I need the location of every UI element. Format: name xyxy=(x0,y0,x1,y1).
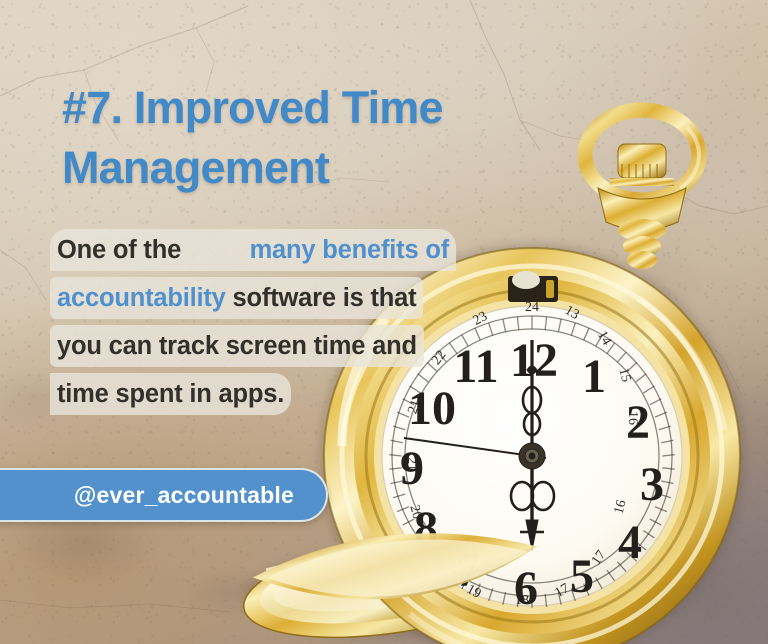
svg-text:24: 24 xyxy=(525,300,539,315)
body-line-2-seg-2: software is that xyxy=(226,284,417,312)
svg-text:12: 12 xyxy=(510,334,558,387)
svg-text:1: 1 xyxy=(582,350,606,403)
body-line-1-seg-2: many benefits of xyxy=(250,226,449,274)
body-line-4: time spent in apps. xyxy=(57,370,449,418)
svg-text:6: 6 xyxy=(514,562,538,615)
body-line-1-seg-1: One of the xyxy=(57,226,181,274)
svg-text:5: 5 xyxy=(570,550,594,603)
body-copy: One of the many benefits of accountabili… xyxy=(57,226,449,418)
body-line-2: accountability software is that xyxy=(57,274,449,322)
body-line-3: you can track screen time and xyxy=(57,322,449,370)
watch-crown xyxy=(598,144,686,269)
body-line-3-seg-1: you can track screen time and xyxy=(57,332,417,360)
body-line-2-seg-1: accountability xyxy=(57,284,226,312)
svg-text:4: 4 xyxy=(618,516,642,569)
handle-text: @ever_accountable xyxy=(74,482,294,509)
svg-text:2: 2 xyxy=(626,396,650,449)
body-line-4-seg-1: time spent in apps. xyxy=(57,380,284,408)
social-post-canvas: 24 13 14 15 16 16 17 17 18 19 20 20 21 2… xyxy=(0,0,768,644)
handle-badge[interactable]: @ever_accountable xyxy=(0,468,328,522)
body-line-1: One of the many benefits of xyxy=(57,226,449,274)
svg-text:3: 3 xyxy=(640,458,664,511)
svg-text:9: 9 xyxy=(400,442,424,495)
svg-text:11: 11 xyxy=(453,340,498,393)
page-title: #7. Improved Time Management xyxy=(62,78,562,198)
